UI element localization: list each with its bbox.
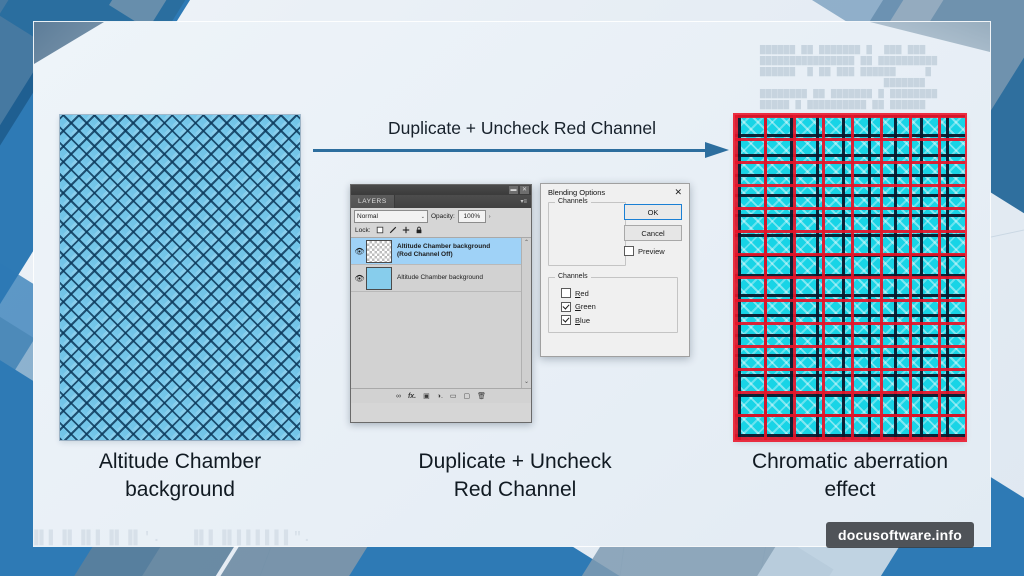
blue-channel-checkbox[interactable] bbox=[561, 315, 571, 325]
opacity-label: Opacity: bbox=[431, 213, 455, 220]
photoshop-layers-panel[interactable]: ▬ ✕ LAYERS ▾≡ Normal ⌄ Opacity: 100% › L… bbox=[350, 184, 532, 423]
altitude-chamber-background-image bbox=[60, 115, 300, 440]
layer-name: Altitude Chamber background bbox=[397, 274, 483, 282]
layer-row-background[interactable]: 👁 Altitude Chamber background bbox=[351, 265, 531, 292]
minimize-icon[interactable]: ▬ bbox=[509, 186, 518, 194]
lock-row: Lock: bbox=[351, 225, 531, 237]
layer-row-duplicate[interactable]: 👁 Altitude Chamber background (Rod Chann… bbox=[351, 238, 531, 265]
adjustment-icon[interactable]: ◑. bbox=[437, 393, 443, 400]
lock-all-icon[interactable] bbox=[415, 226, 423, 234]
ok-button[interactable]: OK bbox=[624, 204, 682, 220]
opacity-stepper-icon[interactable]: › bbox=[489, 214, 491, 220]
mask-icon[interactable]: ▣ bbox=[423, 392, 430, 400]
red-channel-checkbox[interactable] bbox=[561, 288, 571, 298]
chromatic-aberration-image bbox=[735, 115, 965, 440]
layer-thumbnail[interactable] bbox=[366, 267, 392, 290]
blue-channel-label: Blue bbox=[575, 316, 590, 325]
channel-row-blue[interactable]: Blue bbox=[561, 315, 677, 325]
fx-icon[interactable]: fx. bbox=[408, 393, 416, 400]
layer-thumbnail[interactable] bbox=[366, 240, 392, 263]
group-legend: Channels bbox=[555, 198, 591, 205]
opacity-input[interactable]: 100% bbox=[458, 210, 486, 223]
cancel-button[interactable]: Cancel bbox=[624, 225, 682, 241]
dialog-body: Channels OK Cancel Preview Channels Red bbox=[541, 199, 689, 339]
group-legend: Channels bbox=[555, 273, 591, 280]
preview-checkbox-row[interactable]: Preview bbox=[624, 246, 682, 256]
preview-label: Preview bbox=[638, 247, 665, 256]
layers-scrollbar[interactable]: ⌃ ⌄ bbox=[521, 238, 531, 388]
green-channel-label: Green bbox=[575, 302, 596, 311]
dialog-buttons: OK Cancel Preview bbox=[624, 204, 682, 256]
lock-image-icon[interactable] bbox=[389, 226, 397, 234]
new-layer-icon[interactable]: ▢ bbox=[464, 392, 471, 400]
arrow-head-icon bbox=[705, 142, 729, 158]
lock-label: Lock: bbox=[355, 227, 371, 234]
folder-icon[interactable]: ▭ bbox=[450, 392, 457, 400]
red-channel-label: Red bbox=[575, 289, 589, 298]
blending-options-dialog[interactable]: Blending Options ✕ Channels OK Cancel Pr… bbox=[540, 183, 690, 357]
chevron-down-icon: ⌄ bbox=[421, 214, 425, 220]
panel-menu-icon[interactable]: ▾≡ bbox=[520, 198, 527, 205]
green-channel-checkbox[interactable] bbox=[561, 302, 571, 312]
channels-group-top: Channels bbox=[548, 202, 626, 266]
channel-row-red[interactable]: Red bbox=[561, 288, 677, 298]
caption-center: Duplicate + Uncheck Red Channel bbox=[370, 448, 660, 503]
eye-icon[interactable]: 👁 bbox=[353, 247, 366, 256]
blend-mode-value: Normal bbox=[357, 213, 378, 220]
process-arrow: Duplicate + Uncheck Red Channel bbox=[313, 118, 731, 164]
arrow-line bbox=[313, 149, 708, 152]
layers-panel-tabbar: LAYERS ▾≡ bbox=[351, 195, 531, 208]
channels-group-bottom: Channels Red Green Blue bbox=[548, 277, 678, 333]
arrow-label: Duplicate + Uncheck Red Channel bbox=[313, 118, 731, 139]
slide-canvas: ▇▇▇▇▇▇ ▇▇ ▇▇▇▇▇▇▇ ▇ ▇▇▇ ▇▇▇ ▇▇▇▇▇▇▇▇▇▇▇▇… bbox=[0, 0, 1024, 576]
scroll-down-icon[interactable]: ⌄ bbox=[522, 378, 531, 387]
lock-transparent-icon[interactable] bbox=[376, 226, 384, 234]
layer-name: Altitude Chamber background (Rod Channel… bbox=[397, 243, 490, 259]
blend-mode-row: Normal ⌄ Opacity: 100% › bbox=[351, 208, 531, 225]
watermark-badge: docusoftware.info bbox=[826, 522, 974, 548]
layers-list[interactable]: 👁 Altitude Chamber background (Rod Chann… bbox=[351, 237, 531, 389]
decor-ghost-text-bottom: ▐▌▌▐▌▐▌▌▐▌▐▌'. ▐▌▌▐▌▌▌▌▌▌▌". bbox=[30, 530, 312, 546]
trash-icon[interactable]: 🗑 bbox=[477, 392, 486, 400]
dialog-title: Blending Options bbox=[548, 188, 605, 197]
decor-ghost-text-top: ▇▇▇▇▇▇ ▇▇ ▇▇▇▇▇▇▇ ▇ ▇▇▇ ▇▇▇ ▇▇▇▇▇▇▇▇▇▇▇▇… bbox=[760, 45, 938, 111]
layers-panel-toolbar: ∞ fx. ▣ ◑. ▭ ▢ 🗑 bbox=[351, 389, 531, 403]
layers-panel-titlebar: ▬ ✕ bbox=[351, 185, 531, 195]
caption-right: Chromatic aberration effect bbox=[700, 448, 1000, 503]
lock-position-icon[interactable] bbox=[402, 226, 410, 234]
eye-icon[interactable]: 👁 bbox=[353, 274, 366, 283]
preview-checkbox[interactable] bbox=[624, 246, 634, 256]
dialog-titlebar: Blending Options ✕ bbox=[541, 184, 689, 199]
channel-row-green[interactable]: Green bbox=[561, 302, 677, 312]
blend-mode-select[interactable]: Normal ⌄ bbox=[354, 210, 428, 223]
tab-layers[interactable]: LAYERS bbox=[351, 195, 395, 208]
close-icon[interactable]: ✕ bbox=[672, 188, 684, 197]
caption-left: Altitude Chamber background bbox=[40, 448, 320, 503]
scroll-up-icon[interactable]: ⌃ bbox=[522, 239, 531, 248]
link-icon[interactable]: ∞ bbox=[396, 393, 401, 400]
close-icon[interactable]: ✕ bbox=[520, 186, 529, 194]
